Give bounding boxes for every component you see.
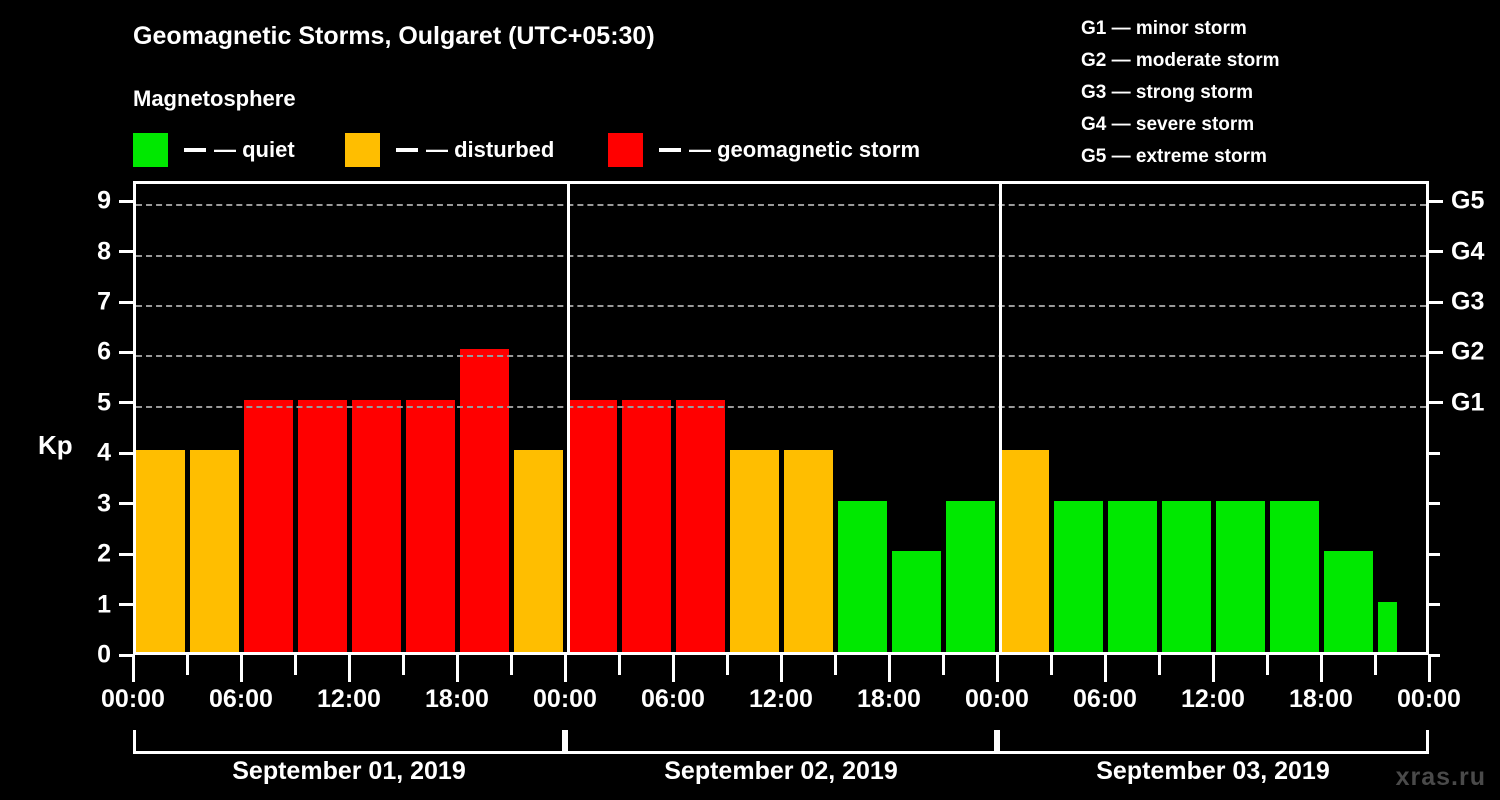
x-axis-label: 00:00 bbox=[101, 685, 165, 714]
bar bbox=[1216, 501, 1265, 652]
legend-item-quiet: — quiet bbox=[133, 133, 295, 167]
x-axis: 00:0006:0012:0018:0000:0006:0012:0018:00… bbox=[0, 655, 1500, 715]
legend-label: — quiet bbox=[214, 137, 295, 163]
y-axis-tick bbox=[119, 603, 133, 606]
x-axis-tick bbox=[942, 655, 945, 675]
bar bbox=[136, 450, 185, 652]
x-axis-label: 18:00 bbox=[425, 685, 489, 714]
g-axis-minor-tick bbox=[1429, 603, 1440, 606]
legend-label: — disturbed bbox=[426, 137, 554, 163]
x-axis-tick bbox=[672, 655, 675, 682]
g-axis-tick bbox=[1429, 250, 1443, 253]
g-axis-minor-tick bbox=[1429, 502, 1440, 505]
g-axis-label: G4 bbox=[1451, 237, 1484, 266]
date-brackets: September 01, 2019September 02, 2019Sept… bbox=[0, 730, 1500, 800]
g-axis-label: G2 bbox=[1451, 338, 1484, 367]
day-separator-2 bbox=[999, 184, 1002, 652]
g-axis-minor-tick bbox=[1429, 553, 1440, 556]
x-axis-tick bbox=[348, 655, 351, 682]
x-axis-label: 06:00 bbox=[1073, 685, 1137, 714]
x-axis-tick bbox=[726, 655, 729, 675]
bar bbox=[1324, 551, 1373, 652]
y-axis-tick bbox=[119, 553, 133, 556]
bar bbox=[1108, 501, 1157, 652]
y-axis-tick bbox=[119, 200, 133, 203]
y-axis-tick bbox=[119, 401, 133, 404]
y-axis-label: 3 bbox=[71, 489, 111, 518]
x-axis-label: 06:00 bbox=[209, 685, 273, 714]
gridline-kp-6 bbox=[136, 355, 1426, 357]
bar bbox=[514, 450, 563, 652]
legend-dash-icon bbox=[184, 148, 206, 152]
g-scale-row-4: G4 — severe storm bbox=[1081, 109, 1280, 141]
legend-item-disturbed: — disturbed bbox=[345, 133, 554, 167]
legend-dash-icon bbox=[396, 148, 418, 152]
bar bbox=[838, 501, 887, 652]
g-scale-row-2: G2 — moderate storm bbox=[1081, 45, 1280, 77]
date-bracket bbox=[133, 730, 565, 754]
y-axis-label: 1 bbox=[71, 590, 111, 619]
y-axis-label: 7 bbox=[71, 288, 111, 317]
bar bbox=[1000, 450, 1049, 652]
y-axis-label: 4 bbox=[71, 439, 111, 468]
bar bbox=[460, 349, 509, 652]
x-axis-tick bbox=[402, 655, 405, 675]
x-axis-tick bbox=[1050, 655, 1053, 675]
y-axis-tick bbox=[119, 250, 133, 253]
y-axis: 0123456789 bbox=[0, 181, 133, 655]
x-axis-tick bbox=[186, 655, 189, 675]
bar bbox=[784, 450, 833, 652]
x-axis-tick bbox=[1158, 655, 1161, 675]
bar bbox=[946, 501, 995, 652]
x-axis-tick bbox=[240, 655, 243, 682]
x-axis-tick bbox=[132, 655, 135, 682]
x-axis-label: 18:00 bbox=[1289, 685, 1353, 714]
g-axis-tick bbox=[1429, 301, 1443, 304]
gridline-kp-7 bbox=[136, 305, 1426, 307]
day-separator-1 bbox=[567, 184, 570, 652]
g-scale-legend: G1 — minor stormG2 — moderate stormG3 — … bbox=[1081, 13, 1280, 173]
y-axis-tick bbox=[119, 301, 133, 304]
y-axis-tick bbox=[119, 502, 133, 505]
x-axis-tick bbox=[456, 655, 459, 682]
bar bbox=[1378, 602, 1397, 652]
x-axis-tick bbox=[1320, 655, 1323, 682]
legend-swatch-quiet-icon bbox=[133, 133, 168, 167]
g-axis-label: G3 bbox=[1451, 288, 1484, 317]
date-bracket bbox=[997, 730, 1429, 754]
g-scale-row-5: G5 — extreme storm bbox=[1081, 141, 1280, 173]
g-scale-axis: G1G2G3G4G5 bbox=[1429, 181, 1500, 655]
g-axis-label: G1 bbox=[1451, 388, 1484, 417]
bar bbox=[676, 400, 725, 652]
x-axis-label: 18:00 bbox=[857, 685, 921, 714]
y-axis-title: Kp bbox=[38, 430, 73, 461]
bar bbox=[892, 551, 941, 652]
g-axis-tick bbox=[1429, 401, 1443, 404]
x-axis-tick bbox=[834, 655, 837, 675]
y-axis-tick bbox=[119, 351, 133, 354]
bar bbox=[244, 400, 293, 652]
x-axis-label: 00:00 bbox=[1397, 685, 1461, 714]
gridline-kp-5 bbox=[136, 406, 1426, 408]
g-axis-tick bbox=[1429, 200, 1443, 203]
plot-inner bbox=[136, 184, 1426, 652]
x-axis-label: 00:00 bbox=[533, 685, 597, 714]
x-axis-tick bbox=[1212, 655, 1215, 682]
x-axis-label: 12:00 bbox=[749, 685, 813, 714]
x-axis-tick bbox=[294, 655, 297, 675]
g-axis-tick bbox=[1429, 351, 1443, 354]
plot-area bbox=[133, 181, 1429, 655]
bar bbox=[406, 400, 455, 652]
gridline-kp-9 bbox=[136, 204, 1426, 206]
x-axis-tick bbox=[618, 655, 621, 675]
y-axis-tick bbox=[119, 452, 133, 455]
page-title: Geomagnetic Storms, Oulgaret (UTC+05:30) bbox=[133, 22, 655, 51]
date-label: September 02, 2019 bbox=[664, 757, 897, 786]
bar bbox=[1270, 501, 1319, 652]
x-axis-tick bbox=[888, 655, 891, 682]
g-scale-row-3: G3 — strong storm bbox=[1081, 77, 1280, 109]
bar bbox=[622, 400, 671, 652]
g-axis-label: G5 bbox=[1451, 187, 1484, 216]
bar bbox=[1054, 501, 1103, 652]
x-axis-tick bbox=[996, 655, 999, 682]
date-bracket bbox=[565, 730, 997, 754]
legend-item-storm: — geomagnetic storm bbox=[608, 133, 920, 167]
legend-label: — geomagnetic storm bbox=[689, 137, 920, 163]
legend-swatch-storm-icon bbox=[608, 133, 643, 167]
bar bbox=[1162, 501, 1211, 652]
chart-subtitle: Magnetosphere bbox=[133, 86, 296, 112]
legend-swatch-disturbed-icon bbox=[345, 133, 380, 167]
x-axis-label: 12:00 bbox=[317, 685, 381, 714]
x-axis-label: 12:00 bbox=[1181, 685, 1245, 714]
y-axis-label: 8 bbox=[71, 237, 111, 266]
date-label: September 03, 2019 bbox=[1096, 757, 1329, 786]
bar bbox=[568, 400, 617, 652]
bar bbox=[352, 400, 401, 652]
y-axis-label: 2 bbox=[71, 540, 111, 569]
y-axis-label: 6 bbox=[71, 338, 111, 367]
x-axis-tick bbox=[1428, 655, 1431, 682]
legend-dash-icon bbox=[659, 148, 681, 152]
date-label: September 01, 2019 bbox=[232, 757, 465, 786]
x-axis-tick bbox=[1266, 655, 1269, 675]
g-axis-minor-tick bbox=[1429, 452, 1440, 455]
x-axis-tick bbox=[780, 655, 783, 682]
bar bbox=[730, 450, 779, 652]
bar bbox=[190, 450, 239, 652]
x-axis-tick bbox=[510, 655, 513, 675]
x-axis-tick bbox=[1374, 655, 1377, 675]
y-axis-label: 5 bbox=[71, 388, 111, 417]
g-scale-row-1: G1 — minor storm bbox=[1081, 13, 1280, 45]
x-axis-tick bbox=[1104, 655, 1107, 682]
y-axis-label: 9 bbox=[71, 187, 111, 216]
x-axis-label: 00:00 bbox=[965, 685, 1029, 714]
x-axis-label: 06:00 bbox=[641, 685, 705, 714]
x-axis-tick bbox=[564, 655, 567, 682]
watermark: xras.ru bbox=[1396, 763, 1486, 792]
bar bbox=[298, 400, 347, 652]
gridline-kp-8 bbox=[136, 255, 1426, 257]
